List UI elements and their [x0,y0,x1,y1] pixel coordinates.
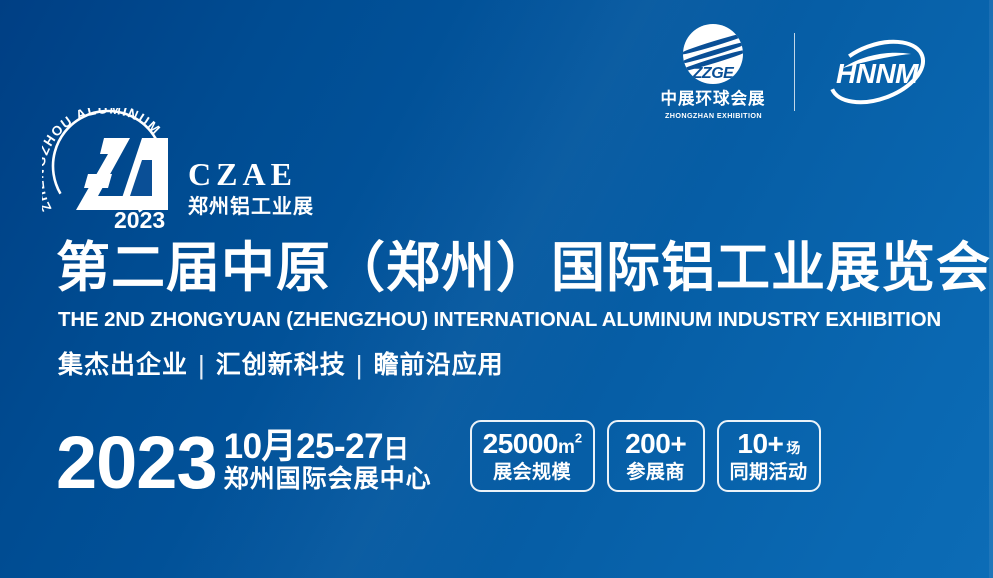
event-year: 2023 [56,429,217,497]
event-date-day-unit: 日 [383,434,409,464]
stat-box: 25000m2 展会规模 [470,420,595,492]
tagline-separator-1: | [198,352,206,378]
stat-box: 10+场 同期活动 [717,420,821,492]
tagline-separator-2: | [356,352,364,378]
tagline-part-1: 集杰出企业 [58,353,188,378]
zzge-logo: ZZGE 中展环球会展 ZHONGZHAN EXHIBITION [661,24,794,119]
zzge-name-cn: 中展环球会展 [661,91,766,108]
stat-value-row: 200+ [620,430,692,458]
zzge-globe-icon: ZZGE [683,24,743,84]
svg-text:HNNM: HNNM [836,58,919,89]
tagline: 集杰出企业 | 汇创新科技 | 瞻前沿应用 [58,352,504,378]
event-venue: 郑州国际会展中心 [224,465,432,494]
stat-label: 同期活动 [730,463,808,482]
stat-value: 25000 [483,428,558,459]
zzge-name-en: ZHONGZHAN EXHIBITION [665,112,762,120]
headline-title-cn: 第二届中原（郑州）国际铝工业展览会 [56,240,991,297]
event-date-block: 10月25-27日 郑州国际会展中心 [224,429,432,497]
event-logo: ZHENGZHOU ALUMINUM 2023 CZAE 郑州铝工业展 [42,108,314,230]
event-logo-name-cn: 郑州铝工业展 [188,197,314,217]
stat-value: 10+ [737,428,783,459]
stat-value: 200+ [625,428,686,459]
hnnm-swoosh-icon: HNNM [821,32,933,112]
stat-value-row: 25000m2 [483,430,582,458]
event-date-month: 10月 [224,427,296,466]
event-details: 2023 10月25-27日 郑州国际会展中心 25000m2 展会规模 200… [56,420,821,497]
partner-logos: ZZGE 中展环球会展 ZHONGZHAN EXHIBITION HNNM [661,24,934,119]
event-logo-wordmark: CZAE 郑州铝工业展 [188,108,314,217]
tagline-part-2: 汇创新科技 [216,353,346,378]
stat-unit: m [558,437,575,458]
event-logo-year: 2023 [114,209,165,232]
stat-superscript: 2 [575,431,582,446]
stat-label: 展会规模 [483,463,582,482]
tagline-part-3: 瞻前沿应用 [374,353,504,378]
exhibition-banner: ZZGE 中展环球会展 ZHONGZHAN EXHIBITION HNNM [0,0,993,578]
logo-divider [794,33,796,111]
hnnm-logo: HNNM [821,32,933,112]
event-logo-monogram [76,138,168,210]
stat-boxes: 25000m2 展会规模 200+ 参展商 10+场 同期活动 [470,420,821,497]
headline-title-en: THE 2ND ZHONGYUAN (ZHENGZHOU) INTERNATIO… [58,310,941,331]
event-date-range: 25-27 [296,427,383,466]
event-logo-mark: ZHENGZHOU ALUMINUM 2023 [42,108,190,230]
event-date: 10月25-27日 [224,429,432,465]
stat-suffix: 场 [786,440,800,456]
stat-box: 200+ 参展商 [607,420,705,492]
event-logo-acronym: CZAE [188,158,314,190]
stat-label: 参展商 [620,463,692,482]
zzge-mark-text: ZZGE [683,65,743,83]
stat-value-row: 10+场 [730,430,808,458]
